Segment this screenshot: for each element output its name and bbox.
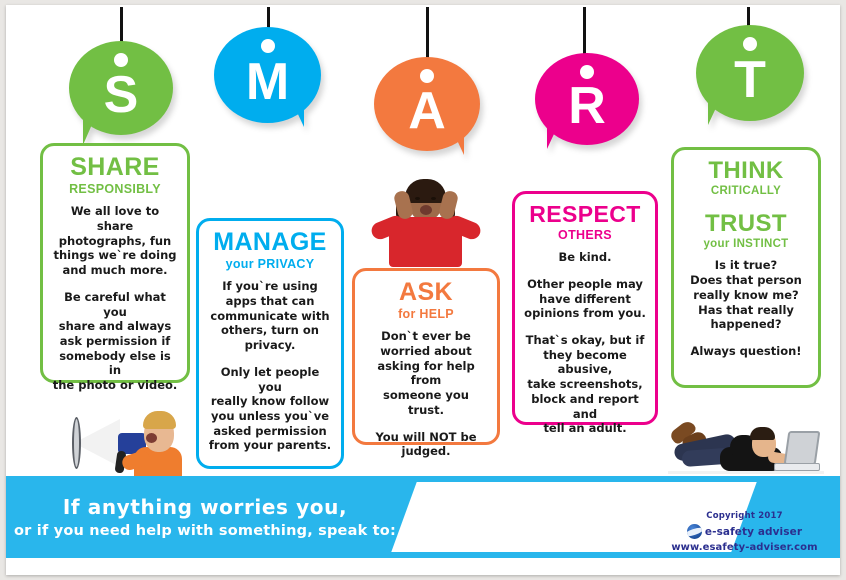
girl-mouth [420, 205, 432, 215]
card-share-heading: SHARE [52, 154, 178, 180]
card-ask: ASK for HELP Don`t ever be worried about… [352, 268, 500, 445]
megaphone-rim [72, 417, 81, 469]
girl-eye-left [415, 197, 420, 200]
card-share-body-1: We all love to share photographs, fun th… [52, 204, 178, 278]
bubble-think: T [696, 25, 804, 121]
card-ask-body-1: Don`t ever be worried about asking for h… [364, 329, 488, 417]
card-think-body-2: Always question! [683, 344, 809, 359]
website-url[interactable]: www.esafety-adviser.com [657, 542, 832, 553]
laptop-screen [784, 431, 821, 465]
girl-hair [405, 179, 446, 203]
bubble-share: S [69, 41, 173, 135]
banner-text-block: If anything worries you, or if you need … [6, 476, 404, 558]
card-trust-subheading: your INSTINCT [683, 238, 809, 250]
bubble-tail [83, 113, 97, 145]
card-respect-heading: RESPECT [524, 202, 646, 226]
bubble-letter-r: R [568, 80, 606, 132]
brand-name: e-safety adviser [705, 526, 802, 538]
bubble-letter-a: A [408, 85, 446, 137]
credit-block: Copyright 2017 e-safety adviser www.esaf… [657, 511, 832, 553]
bubble-hole-icon [261, 39, 275, 53]
bubble-hole-icon [580, 65, 594, 79]
card-think-body-1: Is it true? Does that person really know… [683, 258, 809, 332]
card-think-heading: THINK [683, 158, 809, 183]
laptop-keyboard [774, 463, 820, 471]
card-manage-body-1: If you`re using apps that can communicat… [208, 279, 332, 353]
bubble-respect: R [535, 53, 639, 145]
card-share: SHARE RESPONSIBLY We all love to share p… [40, 143, 190, 383]
card-ask-body-2: You will NOT be judged. [364, 430, 488, 459]
card-manage: MANAGE your PRIVACY If you`re using apps… [196, 218, 344, 469]
card-think: THINK CRITICALLY TRUST your INSTINCT Is … [671, 147, 821, 388]
banner-line-1: If anything worries you, [63, 495, 347, 519]
card-respect-body-1: Be kind. [524, 250, 646, 265]
megaboy-hair [143, 411, 176, 429]
bubble-hole-icon [420, 69, 434, 83]
card-manage-subheading: your PRIVACY [208, 257, 332, 271]
card-think-subheading: CRITICALLY [683, 185, 809, 197]
bubble-tail [448, 121, 464, 155]
bubble-manage: M [214, 27, 321, 123]
globe-icon [687, 524, 702, 539]
bubble-letter-t: T [734, 54, 766, 106]
card-respect: RESPECT OTHERS Be kind. Other people may… [512, 191, 658, 425]
copyright-text: Copyright 2017 [657, 511, 832, 521]
card-trust-heading: TRUST [683, 211, 809, 236]
girl-eye-right [431, 197, 436, 200]
bubble-tail [288, 93, 304, 127]
bubble-tail [547, 119, 561, 149]
bubble-hole-icon [743, 37, 757, 51]
card-respect-subheading: OTHERS [524, 228, 646, 242]
card-manage-body-2: Only let people you really know follow y… [208, 365, 332, 453]
card-manage-heading: MANAGE [208, 229, 332, 255]
bubble-ask: A [374, 57, 480, 151]
banner-line-2: or if you need help with something, spea… [14, 523, 396, 539]
card-share-subheading: RESPONSIBLY [52, 182, 178, 196]
card-respect-body-3: That`s okay, but if they become abusive,… [524, 333, 646, 436]
megaboy-mouth [146, 433, 157, 443]
bubble-letter-m: M [246, 56, 289, 108]
poster-canvas: S M A R T SHARE RESPONSIBLY We all love … [6, 5, 840, 575]
bubble-tail [708, 95, 722, 125]
bubble-letter-s: S [104, 69, 139, 121]
card-share-body-2: Be careful what you share and always ask… [52, 290, 178, 393]
bubble-hole-icon [114, 53, 128, 67]
card-ask-subheading: for HELP [364, 307, 488, 321]
laptopboy-hair [750, 427, 775, 440]
card-ask-heading: ASK [364, 279, 488, 305]
girl-shouting-photo [363, 181, 487, 267]
brand-logo-row: e-safety adviser [657, 524, 832, 539]
card-respect-body-2: Other people may have different opinions… [524, 277, 646, 321]
laptopboy-ground-shadow [668, 471, 824, 474]
